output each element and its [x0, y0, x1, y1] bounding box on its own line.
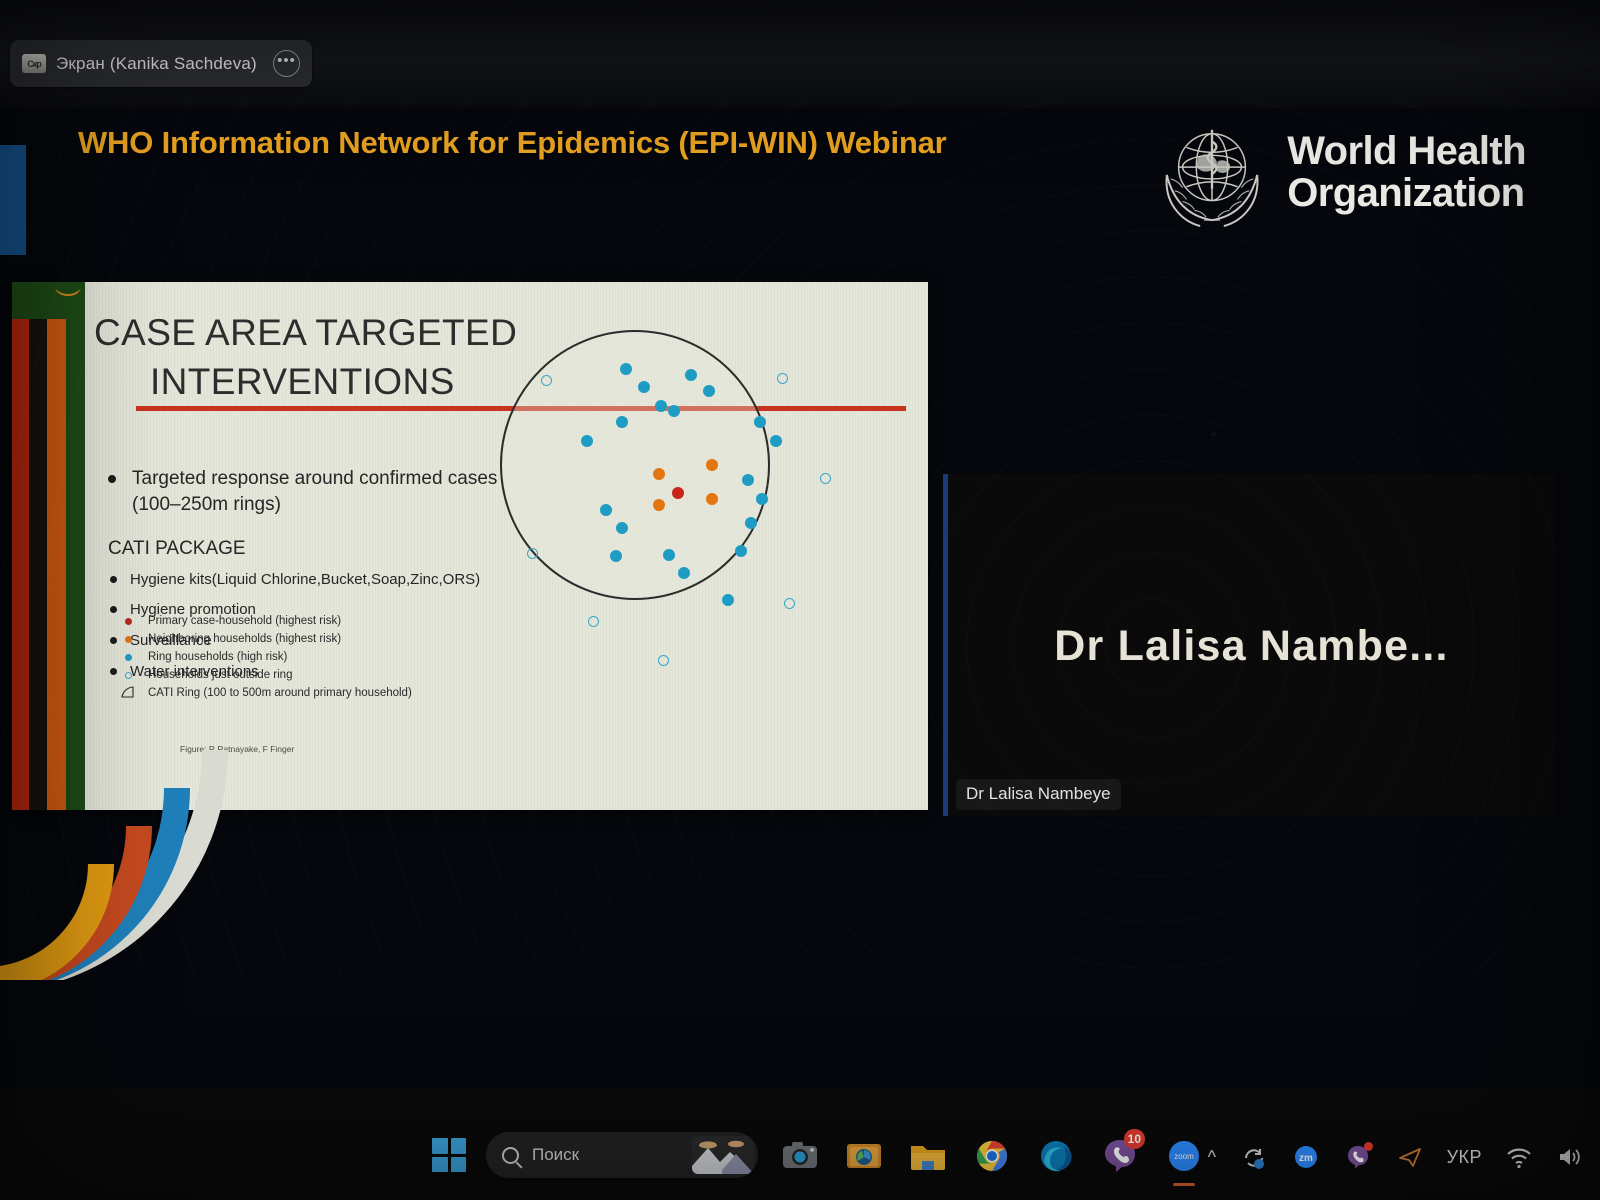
zoom-share-topbar: Скр Экран (Kanika Sachdeva) ••• [0, 0, 1600, 108]
windows-taskbar: Поиск [0, 1088, 1600, 1200]
scatter-point-blue [703, 385, 715, 397]
zoom-tray-label: zm [1299, 1153, 1313, 1164]
scatter-point-orange [706, 459, 718, 471]
scatter-point-blue [742, 474, 754, 486]
scatter-point-hollow [527, 548, 538, 559]
scatter-point-blue [770, 435, 782, 447]
who-wordmark-line2: Organization [1287, 173, 1526, 215]
photos-icon[interactable] [842, 1133, 886, 1177]
participant-name-tag: Dr Lalisa Nambeye [956, 779, 1121, 810]
system-tray: ^ zm [1208, 1142, 1582, 1172]
start-button[interactable] [432, 1138, 466, 1172]
who-logo: World Health Organization [1153, 118, 1526, 228]
scatter-point-blue [600, 504, 612, 516]
scatter-point-blue [581, 435, 593, 447]
cati-ring-diagram [464, 302, 914, 802]
chrome-icon[interactable] [970, 1133, 1014, 1177]
scatter-point-orange [706, 493, 718, 505]
cati-ring-boundary [500, 330, 770, 600]
scatter-point-blue [745, 517, 757, 529]
who-emblem-icon [1153, 118, 1271, 228]
zoom-tray-icon[interactable]: zm [1291, 1142, 1321, 1172]
scatter-point-blue [616, 416, 628, 428]
blue-accent-tab [0, 145, 26, 255]
scatter-point-blue [668, 405, 680, 417]
search-input[interactable]: Поиск [486, 1132, 758, 1178]
scatter-point-orange [653, 468, 665, 480]
participant-display-name: Dr Lalisa Nambe... [948, 622, 1555, 671]
scatter-point-red [672, 487, 684, 499]
who-wordmark: World Health Organization [1287, 131, 1526, 214]
viber-icon[interactable]: 10 [1098, 1133, 1142, 1177]
scatter-point-hollow [784, 598, 795, 609]
more-options-icon[interactable]: ••• [273, 50, 300, 77]
scatter-point-blue [638, 381, 650, 393]
screen-share-pill[interactable]: Скр Экран (Kanika Sachdeva) ••• [10, 40, 312, 87]
scatter-point-blue [663, 549, 675, 561]
scatter-point-blue [735, 545, 747, 557]
volume-icon[interactable] [1556, 1142, 1582, 1172]
scatter-point-hollow [541, 375, 552, 386]
wifi-icon[interactable] [1504, 1142, 1534, 1172]
scatter-point-blue [756, 493, 768, 505]
scatter-point-blue [655, 400, 667, 412]
decorative-arc-graphic [0, 620, 300, 980]
chevron-up-icon[interactable]: ^ [1208, 1147, 1217, 1168]
camera-icon[interactable] [778, 1133, 822, 1177]
file-explorer-icon[interactable] [906, 1133, 950, 1177]
start-tile [432, 1138, 448, 1154]
viber-tray-icon[interactable] [1343, 1142, 1373, 1172]
share-source-label: Экран (Kanika Sachdeva) [56, 54, 257, 74]
scatter-point-hollow [777, 373, 788, 384]
svg-text:zoom: zoom [1174, 1152, 1194, 1161]
slide-title-line1: CASE AREA TARGETED [94, 312, 517, 353]
scatter-point-blue [722, 594, 734, 606]
search-icon [502, 1147, 519, 1164]
start-tile [432, 1157, 448, 1173]
participant-video-tile[interactable]: Dr Lalisa Nambe... Dr Lalisa Nambeye [943, 474, 1555, 816]
telegram-icon[interactable] [1395, 1142, 1425, 1172]
sync-icon[interactable] [1239, 1142, 1269, 1172]
eagle-icon [53, 286, 83, 302]
search-placeholder: Поиск [532, 1145, 579, 1165]
viber-tray-badge [1364, 1142, 1373, 1151]
start-tile [451, 1157, 467, 1173]
bullet-dot-icon [110, 606, 117, 613]
scatter-point-blue [685, 369, 697, 381]
edge-icon[interactable] [1034, 1133, 1078, 1177]
screen-photo: Скр Экран (Kanika Sachdeva) ••• WHO Info… [0, 0, 1600, 1200]
package-item-label: Hygiene kits(Liquid Chlorine,Bucket,Soap… [130, 569, 480, 591]
screen-share-icon: Скр [22, 54, 46, 73]
scatter-point-hollow [588, 616, 599, 627]
shared-screen-area: WHO Information Network for Epidemics (E… [0, 100, 1556, 980]
scatter-point-blue [678, 567, 690, 579]
who-wordmark-line1: World Health [1287, 131, 1526, 173]
bullet-dot-icon [108, 475, 116, 483]
viber-unread-badge: 10 [1124, 1129, 1145, 1149]
scatter-point-blue [620, 363, 632, 375]
scatter-point-orange [653, 499, 665, 511]
scatter-point-hollow [658, 655, 669, 666]
webinar-header-title: WHO Information Network for Epidemics (E… [78, 125, 947, 161]
search-thumbnail-image [692, 1136, 754, 1174]
scatter-point-blue [616, 522, 628, 534]
active-app-indicator [1173, 1183, 1195, 1186]
bullet-dot-icon [110, 576, 117, 583]
scatter-point-hollow [820, 473, 831, 484]
scatter-point-blue [754, 416, 766, 428]
zoom-icon[interactable]: zoom [1162, 1133, 1206, 1177]
taskbar-center-group: Поиск [432, 1132, 1206, 1178]
start-tile [451, 1138, 467, 1154]
language-indicator[interactable]: УКР [1447, 1147, 1482, 1168]
scatter-point-blue [610, 550, 622, 562]
